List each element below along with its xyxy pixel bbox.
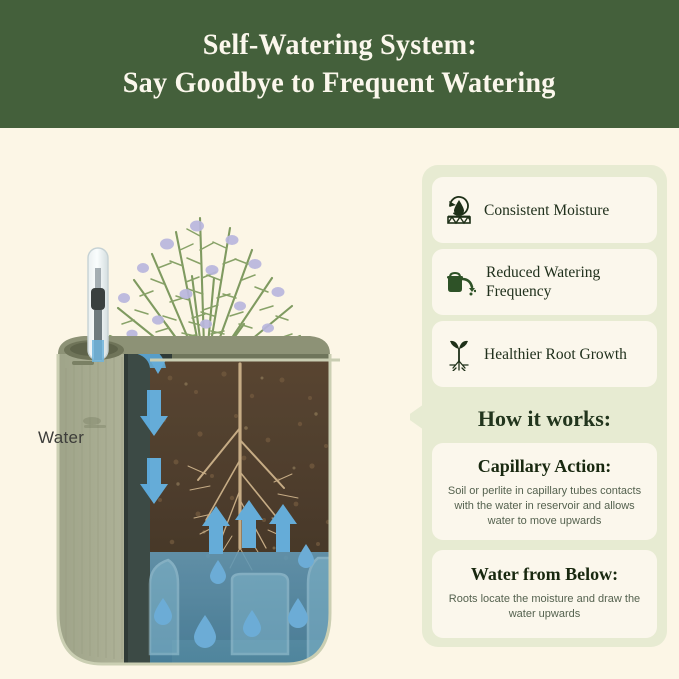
benefit-label-1: Reduced Watering Frequency: [486, 263, 645, 301]
step-heading-0: Capillary Action:: [432, 456, 657, 477]
benefit-label-2: Healthier Root Growth: [484, 345, 627, 364]
benefit-card-healthier-roots[interactable]: Healthier Root Growth: [432, 321, 657, 387]
infographic-page: Self-Watering System: Say Goodbye to Fre…: [0, 0, 679, 679]
water-level-gauge: [88, 248, 108, 362]
seedling-roots-icon: [444, 337, 474, 371]
planter-cutaway-svg: [0, 128, 410, 679]
how-it-works-title: How it works:: [422, 406, 667, 432]
step-card-water-from-below[interactable]: Water from Below: Roots locate the moist…: [432, 550, 657, 638]
step-heading-1: Water from Below:: [432, 564, 657, 585]
planter-cutaway-interior: [124, 340, 342, 670]
step-body-1: Roots locate the moisture and draw the w…: [432, 592, 657, 622]
step-body-0: Soil or perlite in capillary tubes conta…: [432, 484, 657, 529]
planter-illustration: Water: [0, 128, 410, 679]
benefit-card-consistent-moisture[interactable]: Consistent Moisture: [432, 177, 657, 243]
step-card-capillary-action[interactable]: Capillary Action: Soil or perlite in cap…: [432, 443, 657, 540]
header-title-line-2: Say Goodbye to Frequent Watering: [123, 65, 556, 101]
water-label: Water: [38, 428, 84, 448]
benefit-card-reduced-watering[interactable]: Reduced Watering Frequency: [432, 249, 657, 315]
benefit-label-0: Consistent Moisture: [484, 201, 609, 220]
header-title-line-1: Self-Watering System:: [202, 27, 476, 63]
watering-can-icon: [444, 265, 476, 299]
header-banner: Self-Watering System: Say Goodbye to Fre…: [0, 0, 679, 128]
water-drop-cycle-soil-icon: [444, 193, 474, 227]
